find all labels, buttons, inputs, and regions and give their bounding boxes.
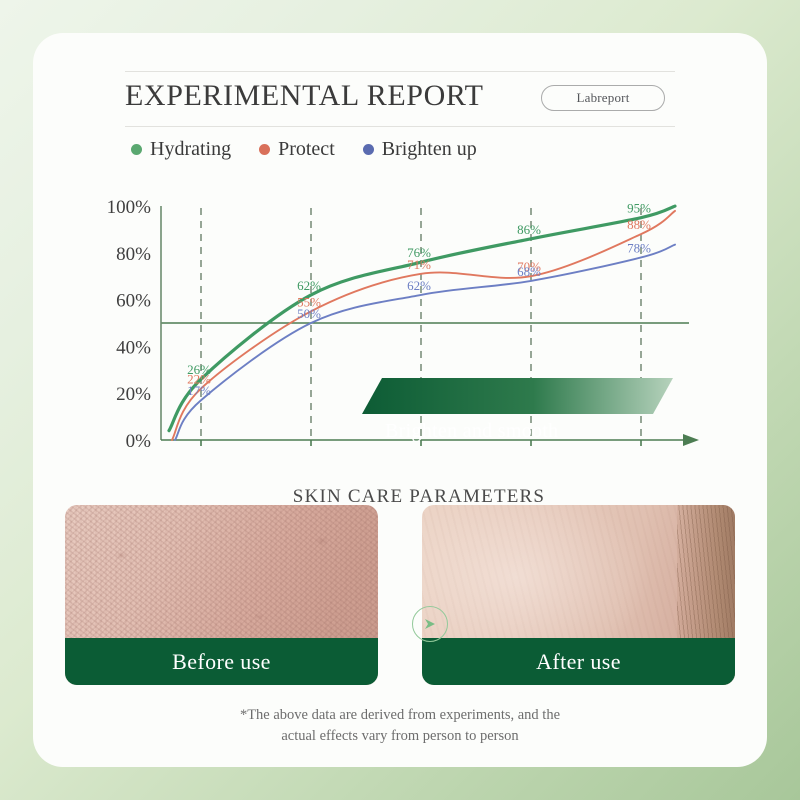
data-point-label: 62%: [407, 278, 431, 293]
legend-label: Hydrating: [150, 138, 231, 161]
data-point-label: 17%: [187, 383, 211, 398]
y-axis-tick-labels: 0%20%40%60%80%100%: [107, 197, 152, 452]
highlight-ribbon: [362, 378, 673, 414]
data-point-label: 88%: [627, 217, 651, 232]
before-photo-card: Before use: [65, 505, 378, 685]
data-point-label: 78%: [627, 240, 651, 255]
ribbon-label: Brighten and smooth: [385, 420, 558, 443]
before-photo-banner: Before use: [65, 638, 378, 685]
legend-dot-icon: [363, 144, 374, 155]
footer-disclaimer: *The above data are derived from experim…: [33, 705, 767, 747]
legend-dot-icon: [259, 144, 270, 155]
y-axis-tick-label: 20%: [116, 384, 151, 405]
footer-line-2: actual effects vary from person to perso…: [33, 726, 767, 747]
after-photo-label: After use: [536, 649, 621, 675]
line-chart: 0%20%40%60%80%100% 26%62%76%86%95%22%55%…: [33, 188, 767, 518]
legend-label: Protect: [278, 138, 335, 161]
y-axis-tick-label: 80%: [116, 244, 151, 265]
data-point-label: 71%: [407, 257, 431, 272]
before-photo-label: Before use: [172, 649, 271, 675]
chart-canvas: 0%20%40%60%80%100% 26%62%76%86%95%22%55%…: [33, 188, 767, 488]
legend-item-brighten-up: Brighten up: [363, 138, 477, 161]
data-point-label: 62%: [297, 278, 321, 293]
y-axis-tick-label: 0%: [126, 431, 152, 452]
after-photo-card: After use: [422, 505, 735, 685]
play-arrow-glyph: [422, 616, 438, 632]
y-axis-tick-label: 40%: [116, 337, 151, 358]
data-point-label: 68%: [517, 264, 541, 279]
labreport-badge-label: Labreport: [576, 90, 629, 106]
page-title: EXPERIMENTAL REPORT: [125, 79, 484, 113]
legend-item-protect: Protect: [259, 138, 335, 161]
after-photo-banner: After use: [422, 638, 735, 685]
report-card: EXPERIMENTAL REPORT Labreport Hydrating …: [33, 33, 767, 767]
y-axis-tick-label: 100%: [107, 197, 152, 218]
y-axis-tick-label: 60%: [116, 291, 151, 312]
legend-item-hydrating: Hydrating: [131, 138, 231, 161]
data-point-label: 86%: [517, 222, 541, 237]
data-point-label: 50%: [297, 306, 321, 321]
header-divider-bottom: [125, 126, 675, 127]
chart-legend: Hydrating Protect Brighten up: [131, 138, 477, 161]
play-arrow-icon: [412, 606, 448, 642]
data-point-label: 95%: [627, 201, 651, 216]
footer-line-1: *The above data are derived from experim…: [33, 705, 767, 726]
header-divider-top: [125, 71, 675, 72]
legend-dot-icon: [131, 144, 142, 155]
labreport-badge: Labreport: [541, 85, 665, 111]
x-axis-arrow-icon: [683, 434, 699, 446]
legend-label: Brighten up: [382, 138, 477, 161]
